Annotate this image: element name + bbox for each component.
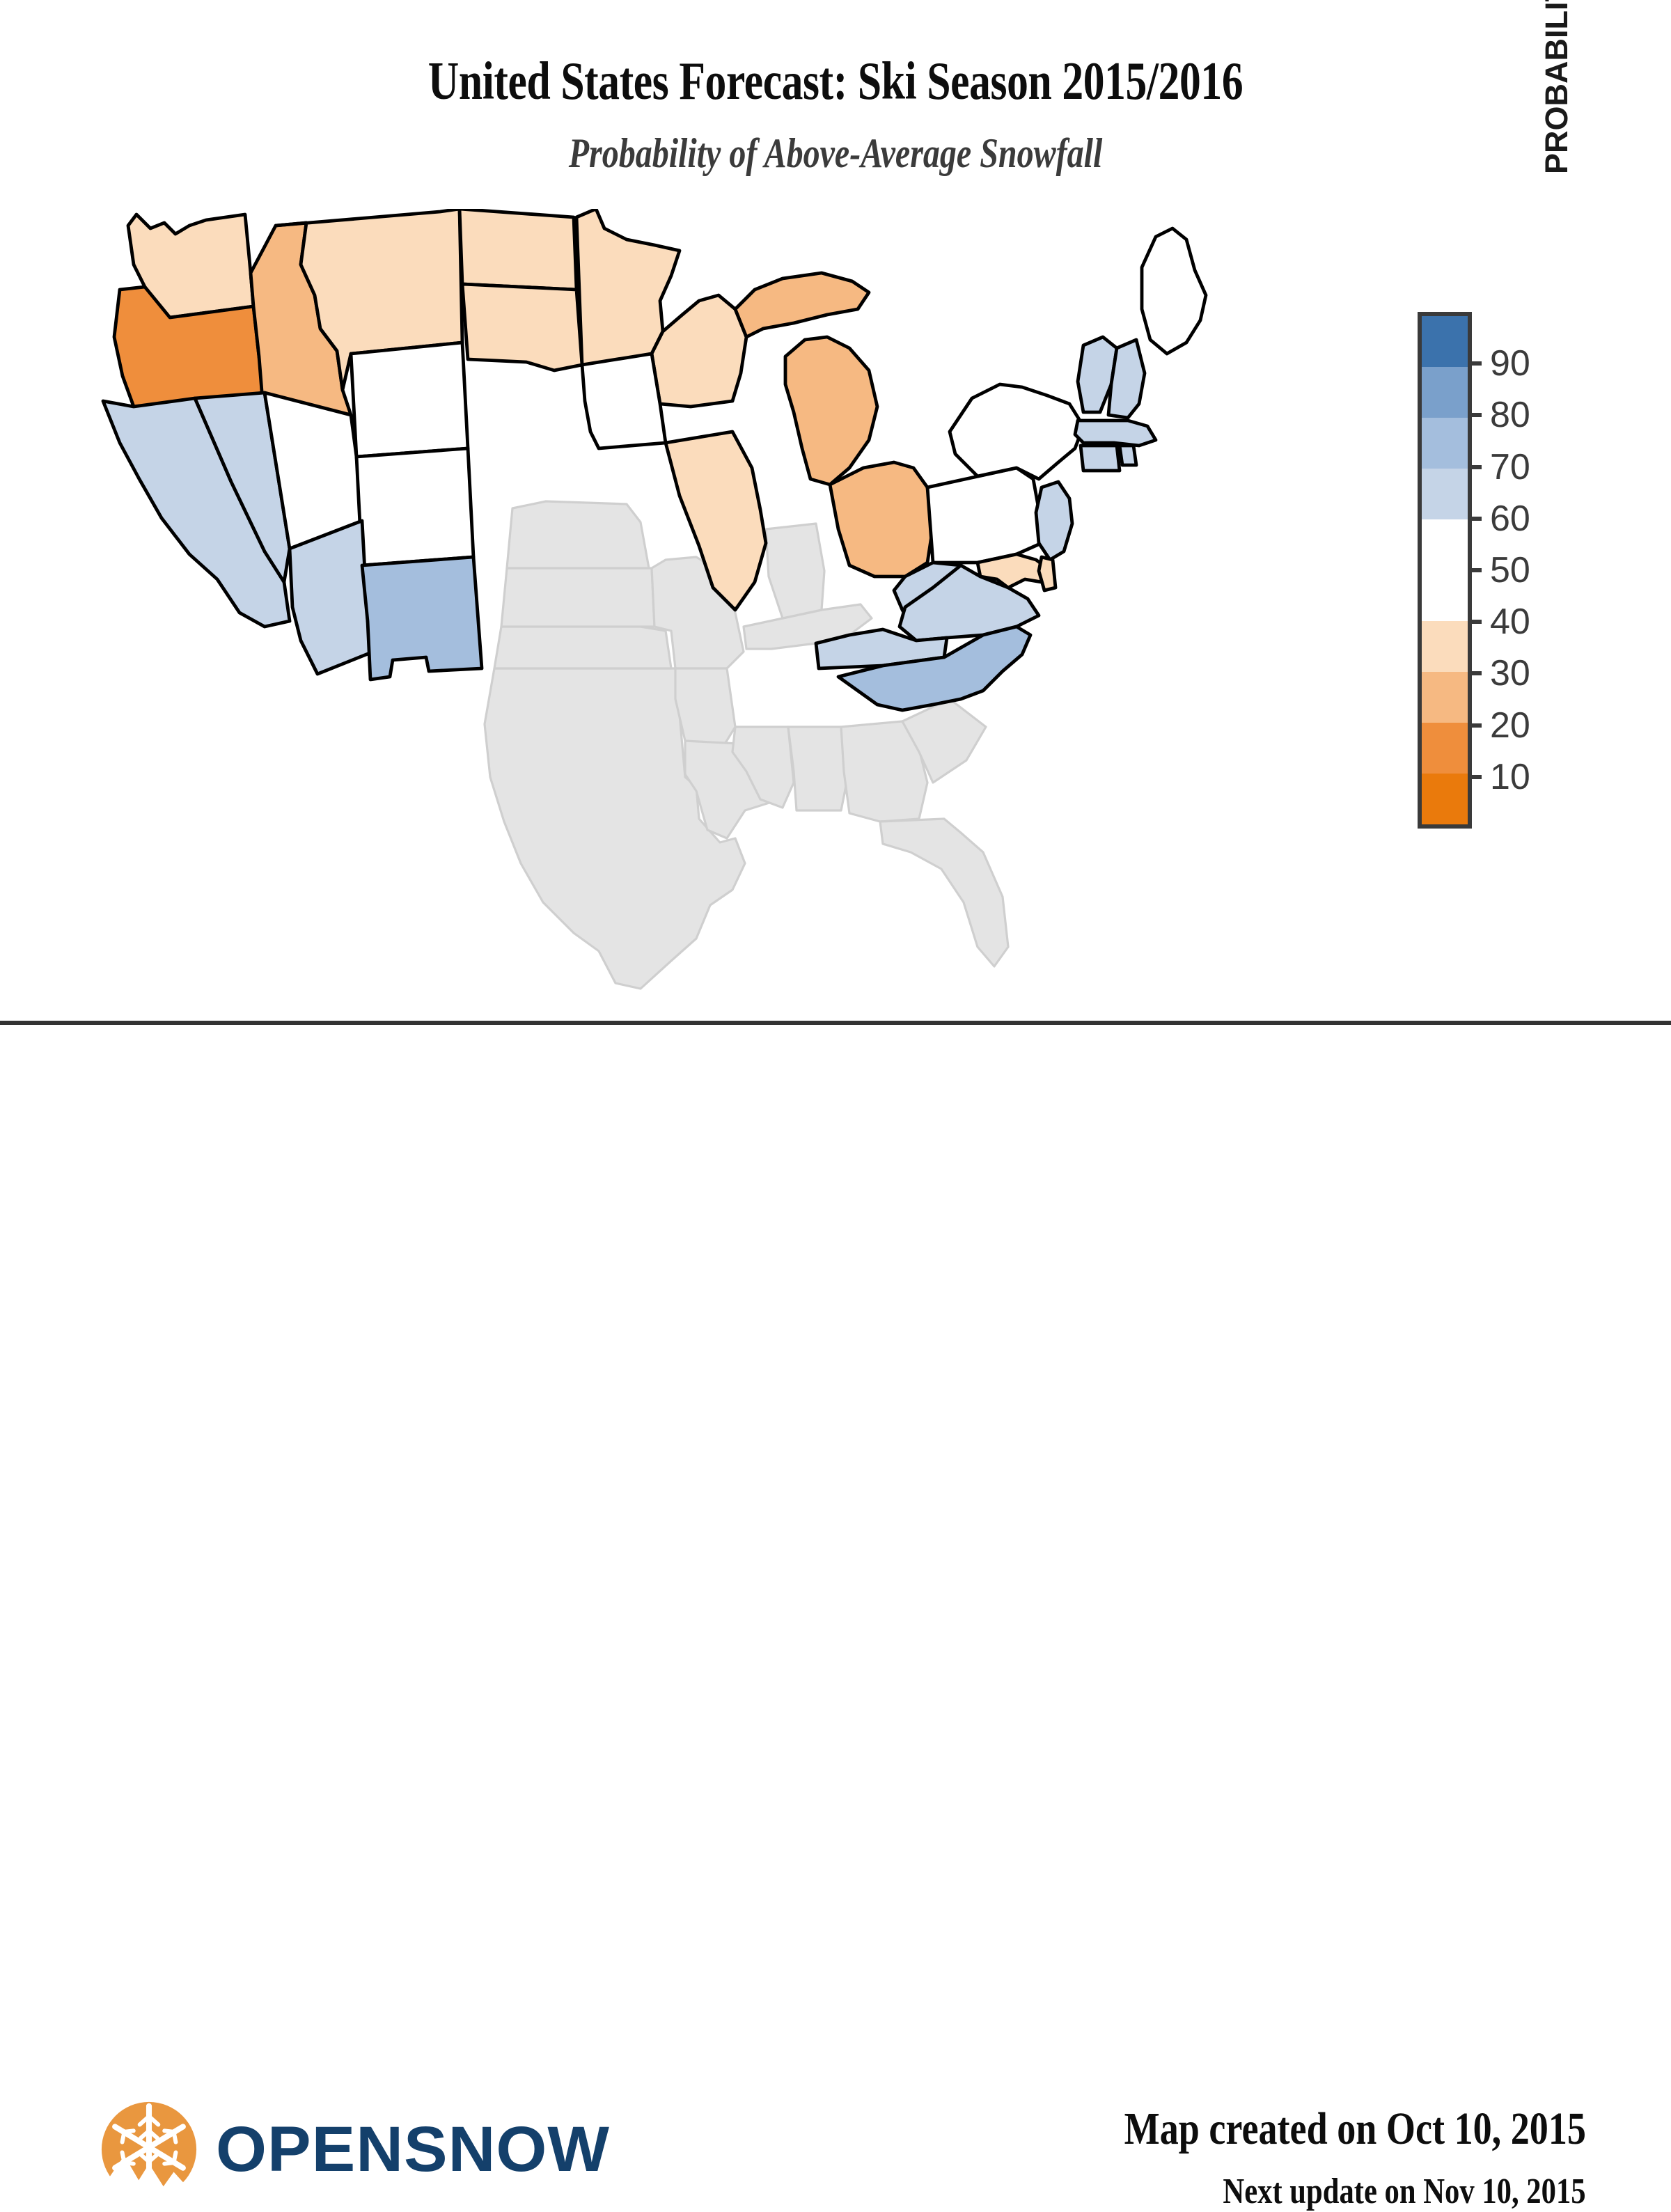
- state-OK: [494, 627, 671, 668]
- legend-tick-mark: [1472, 517, 1482, 521]
- state-ME[interactable]: [1142, 228, 1206, 354]
- state-AZ[interactable]: [290, 521, 373, 674]
- header: United States Forecast: Ski Season 2015/…: [0, 0, 1671, 188]
- legend-tick-mark: [1472, 413, 1482, 417]
- state-CT[interactable]: [1081, 446, 1120, 471]
- legend-band-90-100: [1422, 316, 1468, 367]
- legend-tick-label: 80: [1490, 394, 1530, 436]
- legend-band-70-80: [1422, 418, 1468, 469]
- legend-band-60-70: [1422, 469, 1468, 519]
- legend-band-0-10: [1422, 774, 1468, 824]
- legend-band-20-30: [1422, 672, 1468, 723]
- legend-tick-label: 50: [1490, 549, 1530, 591]
- legend-band-30-40: [1422, 621, 1468, 672]
- legend-tick-label: 30: [1490, 652, 1530, 694]
- state-NJ[interactable]: [1036, 482, 1072, 560]
- state-MA[interactable]: [1075, 421, 1156, 446]
- state-MI[interactable]: [735, 273, 877, 485]
- legend-axis-label: PROBABILITY OF ABOVE AVERAGE SNOWFALL (%…: [1539, 0, 1575, 174]
- legend-band-80-90: [1422, 367, 1468, 418]
- state-OH[interactable]: [830, 462, 933, 576]
- legend-tick-mark: [1472, 465, 1482, 469]
- brand-wordmark: OPENSNOW: [216, 2117, 610, 2181]
- state-WI[interactable]: [652, 295, 746, 407]
- page-subtitle: Probability of Above-Average Snowfall: [167, 130, 1504, 178]
- state-IA[interactable]: [582, 354, 666, 448]
- legend-tick-label: 60: [1490, 498, 1530, 540]
- legend-tick-mark: [1472, 723, 1482, 728]
- legend-tick-label: 20: [1490, 705, 1530, 746]
- state-NY[interactable]: [950, 384, 1083, 479]
- state-DE[interactable]: [1039, 557, 1056, 590]
- legend-tick-label: 10: [1490, 756, 1530, 798]
- legend-tick-mark: [1472, 568, 1482, 572]
- legend-colorbar: [1418, 312, 1472, 829]
- state-WY[interactable]: [351, 343, 468, 457]
- legend-tick-mark: [1472, 620, 1482, 624]
- legend-band-50-60: [1422, 519, 1468, 570]
- state-RI[interactable]: [1120, 446, 1136, 465]
- brand-logo-block[interactable]: OPENSNOW: [97, 2097, 602, 2202]
- legend-tick-mark: [1472, 361, 1482, 366]
- choropleth-map[interactable]: [42, 209, 1386, 996]
- state-ND[interactable]: [460, 209, 576, 290]
- page-title: United States Forecast: Ski Season 2015/…: [167, 50, 1504, 112]
- state-AL: [788, 727, 847, 810]
- legend-tick-label: 70: [1490, 446, 1530, 488]
- legend-tick-mark: [1472, 775, 1482, 779]
- us-map-svg: [42, 209, 1386, 996]
- legend-band-40-50: [1422, 570, 1468, 621]
- legend-tick-group: 90 80 70 60 50 40 30 20: [1472, 312, 1597, 829]
- legend-tick-label: 40: [1490, 601, 1530, 643]
- state-NM[interactable]: [362, 557, 482, 680]
- state-KS: [501, 568, 654, 627]
- state-PA[interactable]: [927, 468, 1042, 563]
- map-created-date: Map created on Oct 10, 2015: [1124, 2103, 1586, 2156]
- next-update-date: Next update on Nov 10, 2015: [1223, 2171, 1586, 2212]
- map-poster: United States Forecast: Ski Season 2015/…: [0, 0, 1671, 1253]
- state-SD[interactable]: [462, 284, 582, 370]
- footer: OPENSNOW Map created on Oct 10, 2015 Nex…: [0, 1025, 1671, 1253]
- legend-tick-mark: [1472, 671, 1482, 675]
- opensnow-logo-icon: [97, 2097, 201, 2202]
- state-CO[interactable]: [356, 448, 473, 565]
- legend-tick-label: 90: [1490, 343, 1530, 384]
- state-AR: [675, 668, 735, 745]
- state-IN: [766, 524, 824, 618]
- snowflake-mountain-icon: [97, 2097, 201, 2202]
- state-NE: [507, 501, 649, 568]
- state-FL: [880, 819, 1008, 966]
- legend-band-10-20: [1422, 723, 1468, 774]
